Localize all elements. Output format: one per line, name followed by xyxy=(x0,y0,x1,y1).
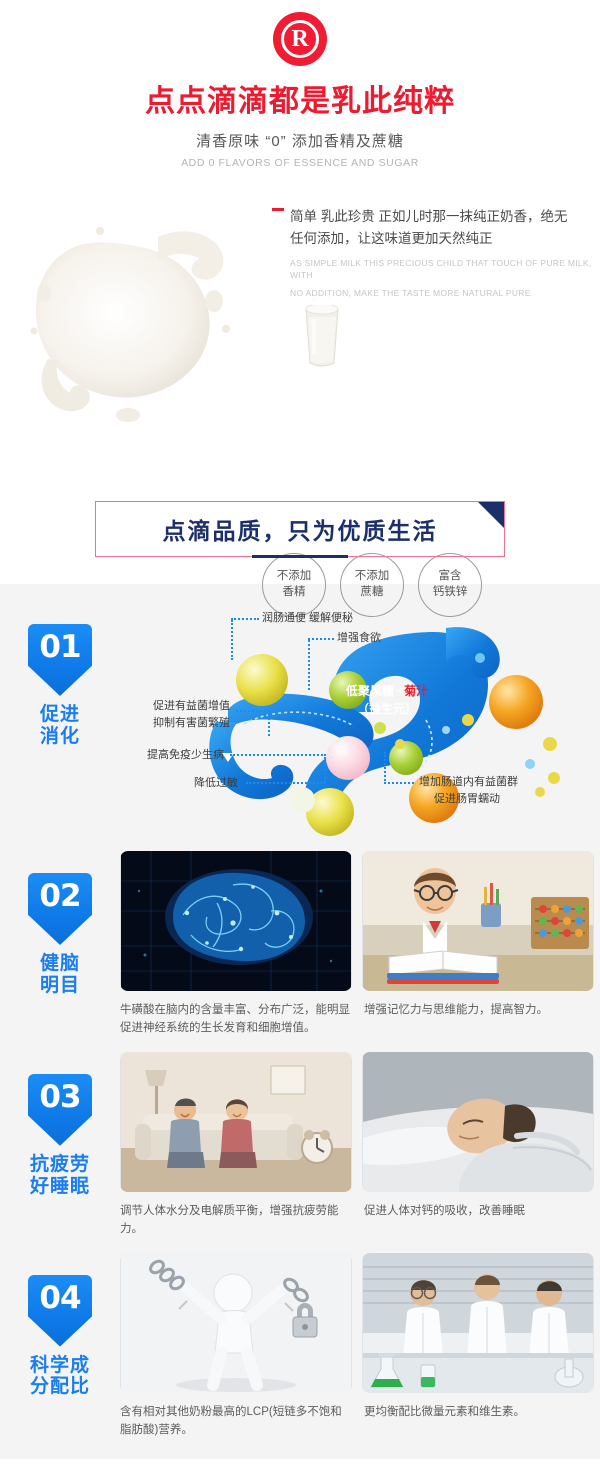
milk-splash-image xyxy=(8,209,258,439)
badge-line1: 不添加 xyxy=(355,569,390,585)
man-sleeping-photo xyxy=(362,1052,594,1192)
intro-section: 简单 乳此珍贵 正如儿时那一抹纯正奶香，绝无 任何添加，让这味道更加天然纯正 A… xyxy=(0,201,600,471)
lab-scientists-photo xyxy=(362,1253,594,1393)
connector-line xyxy=(384,752,386,784)
quality-banner-section: 点滴品质，只为优质生活 xyxy=(0,501,600,558)
hero-subtitle: 清香原味 “0” 添加香精及蔗糖 xyxy=(0,130,600,151)
diagram-center-tag: 低聚果糖 +菊汁 xyxy=(322,682,452,700)
tired-couple-sofa-photo xyxy=(120,1052,352,1192)
photo-row xyxy=(120,851,594,991)
feature-02-body: 牛磺酸在脑内的含量丰富、分布广泛，能明显促进神经系统的生长发育和细胞增值。 增强… xyxy=(120,851,600,1038)
boy-studying-photo xyxy=(362,851,594,991)
center-tag-main: 低聚果糖 + xyxy=(346,684,404,698)
feature-01-body: 润肠通便 缓解便秘 增强食欲 促进有益菌增值 抑制有害菌繁殖 提高免疫少生病 降… xyxy=(120,602,600,837)
feature-04-caption-2: 更均衡配比微量元素和维生素。 xyxy=(360,1403,594,1440)
connector-line xyxy=(230,754,326,756)
feature-02-caption-1: 牛磺酸在脑内的含量丰富、分布广泛，能明显促进神经系统的生长发育和细胞增值。 xyxy=(120,1001,350,1038)
feature-03-caption-2: 促进人体对钙的吸收，改善睡眠 xyxy=(360,1202,594,1239)
hero-section: R 点点滴滴都是乳此纯粹 清香原味 “0” 添加香精及蔗糖 ADD 0 FLAV… xyxy=(0,0,600,169)
page-title: 点点滴滴都是乳此纯粹 xyxy=(0,84,600,120)
feature-03-badge-column: 03 抗疲劳 好睡眠 xyxy=(0,1052,120,1198)
accent-bar xyxy=(272,208,284,211)
registered-trademark-icon: R xyxy=(273,12,327,66)
feature-number: 01 xyxy=(39,632,80,663)
connector-line xyxy=(236,710,270,712)
feature-04-caption-1: 含有相对其他奶粉最高的LCP(短链多不饱和脂肪酸)营养。 xyxy=(120,1403,350,1440)
diagram-label-immunity: 提高免疫少生病 xyxy=(126,747,224,764)
diagram-center-sub: （益生元） xyxy=(322,700,452,718)
feature-number: 03 xyxy=(39,1082,80,1113)
connector-line xyxy=(268,710,270,736)
feature-04-scientific-formula: 04 科学成 分配比 xyxy=(0,1245,600,1446)
shield-icon: 04 xyxy=(28,1275,92,1347)
feature-label-line2: 好睡眠 xyxy=(0,1176,120,1198)
connector-line xyxy=(231,618,259,620)
quality-banner-text: 点滴品质，只为优质生活 xyxy=(163,512,438,546)
connector-line xyxy=(384,782,414,784)
photo-row xyxy=(120,1052,594,1192)
diagram-label-gut-flora: 增加肠道内有益菌群 xyxy=(419,774,518,791)
registered-mark-letter: R xyxy=(281,20,319,58)
feature-label-line1: 促进 xyxy=(0,704,120,726)
milk-glass-image xyxy=(292,291,352,369)
connector-line xyxy=(231,620,233,660)
feature-number: 02 xyxy=(39,881,80,912)
hero-subtitle-english: ADD 0 FLAVORS OF ESSENCE AND SUGAR xyxy=(0,157,600,169)
connector-line xyxy=(308,640,310,690)
badge-line1: 富含 xyxy=(439,569,462,585)
feature-01-badge-column: 01 促进 消化 xyxy=(0,602,120,748)
feature-label-line2: 明目 xyxy=(0,975,120,997)
diagram-label-allergy: 降低过敏 xyxy=(126,775,238,792)
caption-row: 调节人体水分及电解质平衡，增强抗疲劳能力。 促进人体对钙的吸收，改善睡眠 xyxy=(120,1202,594,1239)
feature-label-line2: 消化 xyxy=(0,726,120,748)
caption-row: 含有相对其他奶粉最高的LCP(短链多不饱和脂肪酸)营养。 更均衡配比微量元素和维… xyxy=(120,1403,594,1440)
intro-desc-en-line1: AS SIMPLE MILK THIS PRECIOUS CHILD THAT … xyxy=(272,257,592,282)
banner-underline xyxy=(252,555,348,558)
feature-label-line2: 分配比 xyxy=(0,1376,120,1398)
intro-desc-cn-line1: 简单 乳此珍贵 正如儿时那一抹纯正奶香，绝无 xyxy=(272,206,592,228)
feature-04-body: 含有相对其他奶粉最高的LCP(短链多不饱和脂肪酸)营养。 更均衡配比微量元素和维… xyxy=(120,1253,600,1440)
features-section: 01 促进 消化 xyxy=(0,584,600,1459)
feature-label-line1: 健脑 xyxy=(0,953,120,975)
connector-line xyxy=(246,782,326,784)
diagram-label-probiotic: 促进有益菌增值 xyxy=(126,698,230,715)
feature-label-line1: 抗疲劳 xyxy=(0,1154,120,1176)
quality-banner: 点滴品质，只为优质生活 xyxy=(95,501,505,557)
diagram-label-appetite: 增强食欲 xyxy=(337,630,381,647)
figure-breaking-chain-photo xyxy=(120,1253,352,1393)
photo-row xyxy=(120,1253,594,1393)
intro-desc-cn-line2: 任何添加，让这味道更加天然纯正 xyxy=(272,228,592,250)
product-detail-page: R 点点滴滴都是乳此纯粹 清香原味 “0” 添加香精及蔗糖 ADD 0 FLAV… xyxy=(0,0,600,1459)
diagram-label-peristalsis: 促进肠胃蠕动 xyxy=(434,791,500,808)
feature-04-badge-column: 04 科学成 分配比 xyxy=(0,1253,120,1399)
brain-neurons-photo xyxy=(120,851,352,991)
feature-03-body: 调节人体水分及电解质平衡，增强抗疲劳能力。 促进人体对钙的吸收，改善睡眠 xyxy=(120,1052,600,1239)
feature-02-caption-2: 增强记忆力与思维能力，提高智力。 xyxy=(360,1001,594,1038)
diagram-label-bowel: 润肠通便 缓解便秘 xyxy=(262,610,353,627)
feature-03-antifatigue-sleep: 03 抗疲劳 好睡眠 xyxy=(0,1044,600,1245)
badge-line1: 不添加 xyxy=(277,569,312,585)
feature-02-brain-eyes: 02 健脑 明目 xyxy=(0,843,600,1044)
shield-icon: 03 xyxy=(28,1074,92,1146)
connector-line xyxy=(308,638,334,640)
diagram-label-suppress-harmful: 抑制有害菌繁殖 xyxy=(126,715,230,732)
shield-icon: 02 xyxy=(28,873,92,945)
feature-number: 04 xyxy=(39,1283,80,1314)
caption-row: 牛磺酸在脑内的含量丰富、分布广泛，能明显促进神经系统的生长发育和细胞增值。 增强… xyxy=(120,1001,594,1038)
feature-03-caption-1: 调节人体水分及电解质平衡，增强抗疲劳能力。 xyxy=(120,1202,350,1239)
connector-line xyxy=(324,754,326,782)
center-tag-accent: 菊汁 xyxy=(404,684,428,698)
feature-02-badge-column: 02 健脑 明目 xyxy=(0,851,120,997)
digestion-diagram: 润肠通便 缓解便秘 增强食欲 促进有益菌增值 抑制有害菌繁殖 提高免疫少生病 降… xyxy=(116,602,586,837)
intro-description: 简单 乳此珍贵 正如儿时那一抹纯正奶香，绝无 任何添加，让这味道更加天然纯正 A… xyxy=(272,206,592,299)
corner-triangle-decoration xyxy=(478,502,504,528)
feature-01-digestion: 01 促进 消化 xyxy=(0,594,600,843)
feature-label-line1: 科学成 xyxy=(0,1355,120,1377)
shield-icon: 01 xyxy=(28,624,92,696)
